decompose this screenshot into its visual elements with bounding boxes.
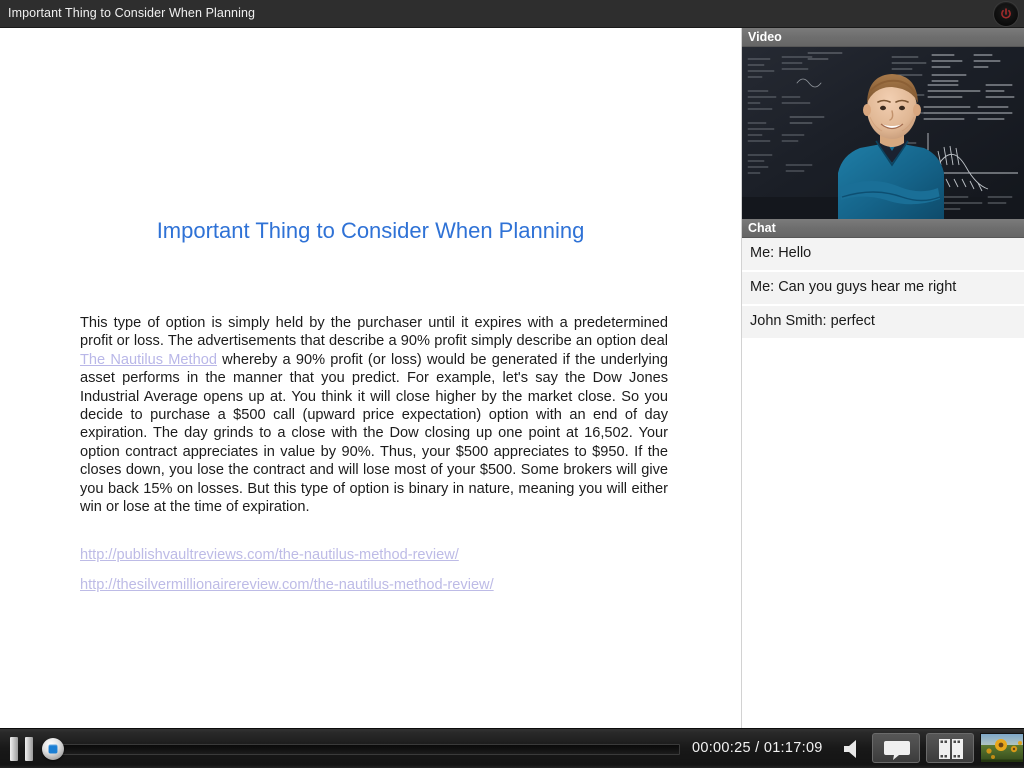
chat-bubble-icon <box>873 734 921 764</box>
page-title: Important Thing to Consider When Plannin… <box>0 218 741 244</box>
video-panel-header: Video <box>742 28 1024 47</box>
speaker-icon <box>840 738 866 760</box>
pause-icon-bar-right <box>25 737 33 761</box>
chat-message: John Smith: perfect <box>742 306 1024 340</box>
chat-message: Me: Hello <box>742 238 1024 272</box>
pause-button[interactable] <box>10 737 36 761</box>
power-icon <box>1000 8 1013 21</box>
chat-message: Me: Can you guys hear me right <box>742 272 1024 306</box>
chat-message-list: Me: Hello Me: Can you guys hear me right… <box>742 238 1024 340</box>
inline-link-nautilus-method[interactable]: The Nautilus Method <box>80 352 217 368</box>
volume-button[interactable] <box>840 738 866 760</box>
seek-slider[interactable] <box>42 737 680 761</box>
document-content-pane: Important Thing to Consider When Plannin… <box>0 28 741 728</box>
filmstrip-button[interactable] <box>926 733 974 763</box>
filmstrip-icon <box>927 734 975 764</box>
chat-panel-header: Chat <box>742 219 1024 238</box>
right-sidebar: Video <box>742 28 1024 728</box>
pause-icon-bar-left <box>10 737 18 761</box>
sunflower-thumbnail-image <box>981 734 1024 763</box>
document-url-1[interactable]: http://publishvaultreviews.com/the-nauti… <box>80 546 680 564</box>
video-player-frame[interactable] <box>742 47 1024 219</box>
document-url-2[interactable]: http://thesilvermillionairereview.com/th… <box>80 576 680 594</box>
chat-toggle-button[interactable] <box>872 733 920 763</box>
title-bar: Important Thing to Consider When Plannin… <box>0 0 1024 28</box>
body-text-part-2: whereby a 90% profit (or loss) would be … <box>80 352 668 515</box>
thumbnail-preview-button[interactable] <box>980 733 1024 763</box>
time-display: 00:00:25 / 01:17:09 <box>692 740 823 756</box>
document-body-text: This type of option is simply held by th… <box>80 314 668 516</box>
power-button[interactable] <box>994 2 1018 26</box>
body-text-part-1: This type of option is simply held by th… <box>80 315 668 349</box>
seek-handle[interactable] <box>42 738 64 760</box>
window-title: Important Thing to Consider When Plannin… <box>8 6 255 20</box>
player-control-bar: 00:00:25 / 01:17:09 <box>0 728 1024 768</box>
document-link-list: http://publishvaultreviews.com/the-nauti… <box>80 546 680 607</box>
seek-track[interactable] <box>56 744 680 755</box>
video-still-image <box>742 47 1024 219</box>
